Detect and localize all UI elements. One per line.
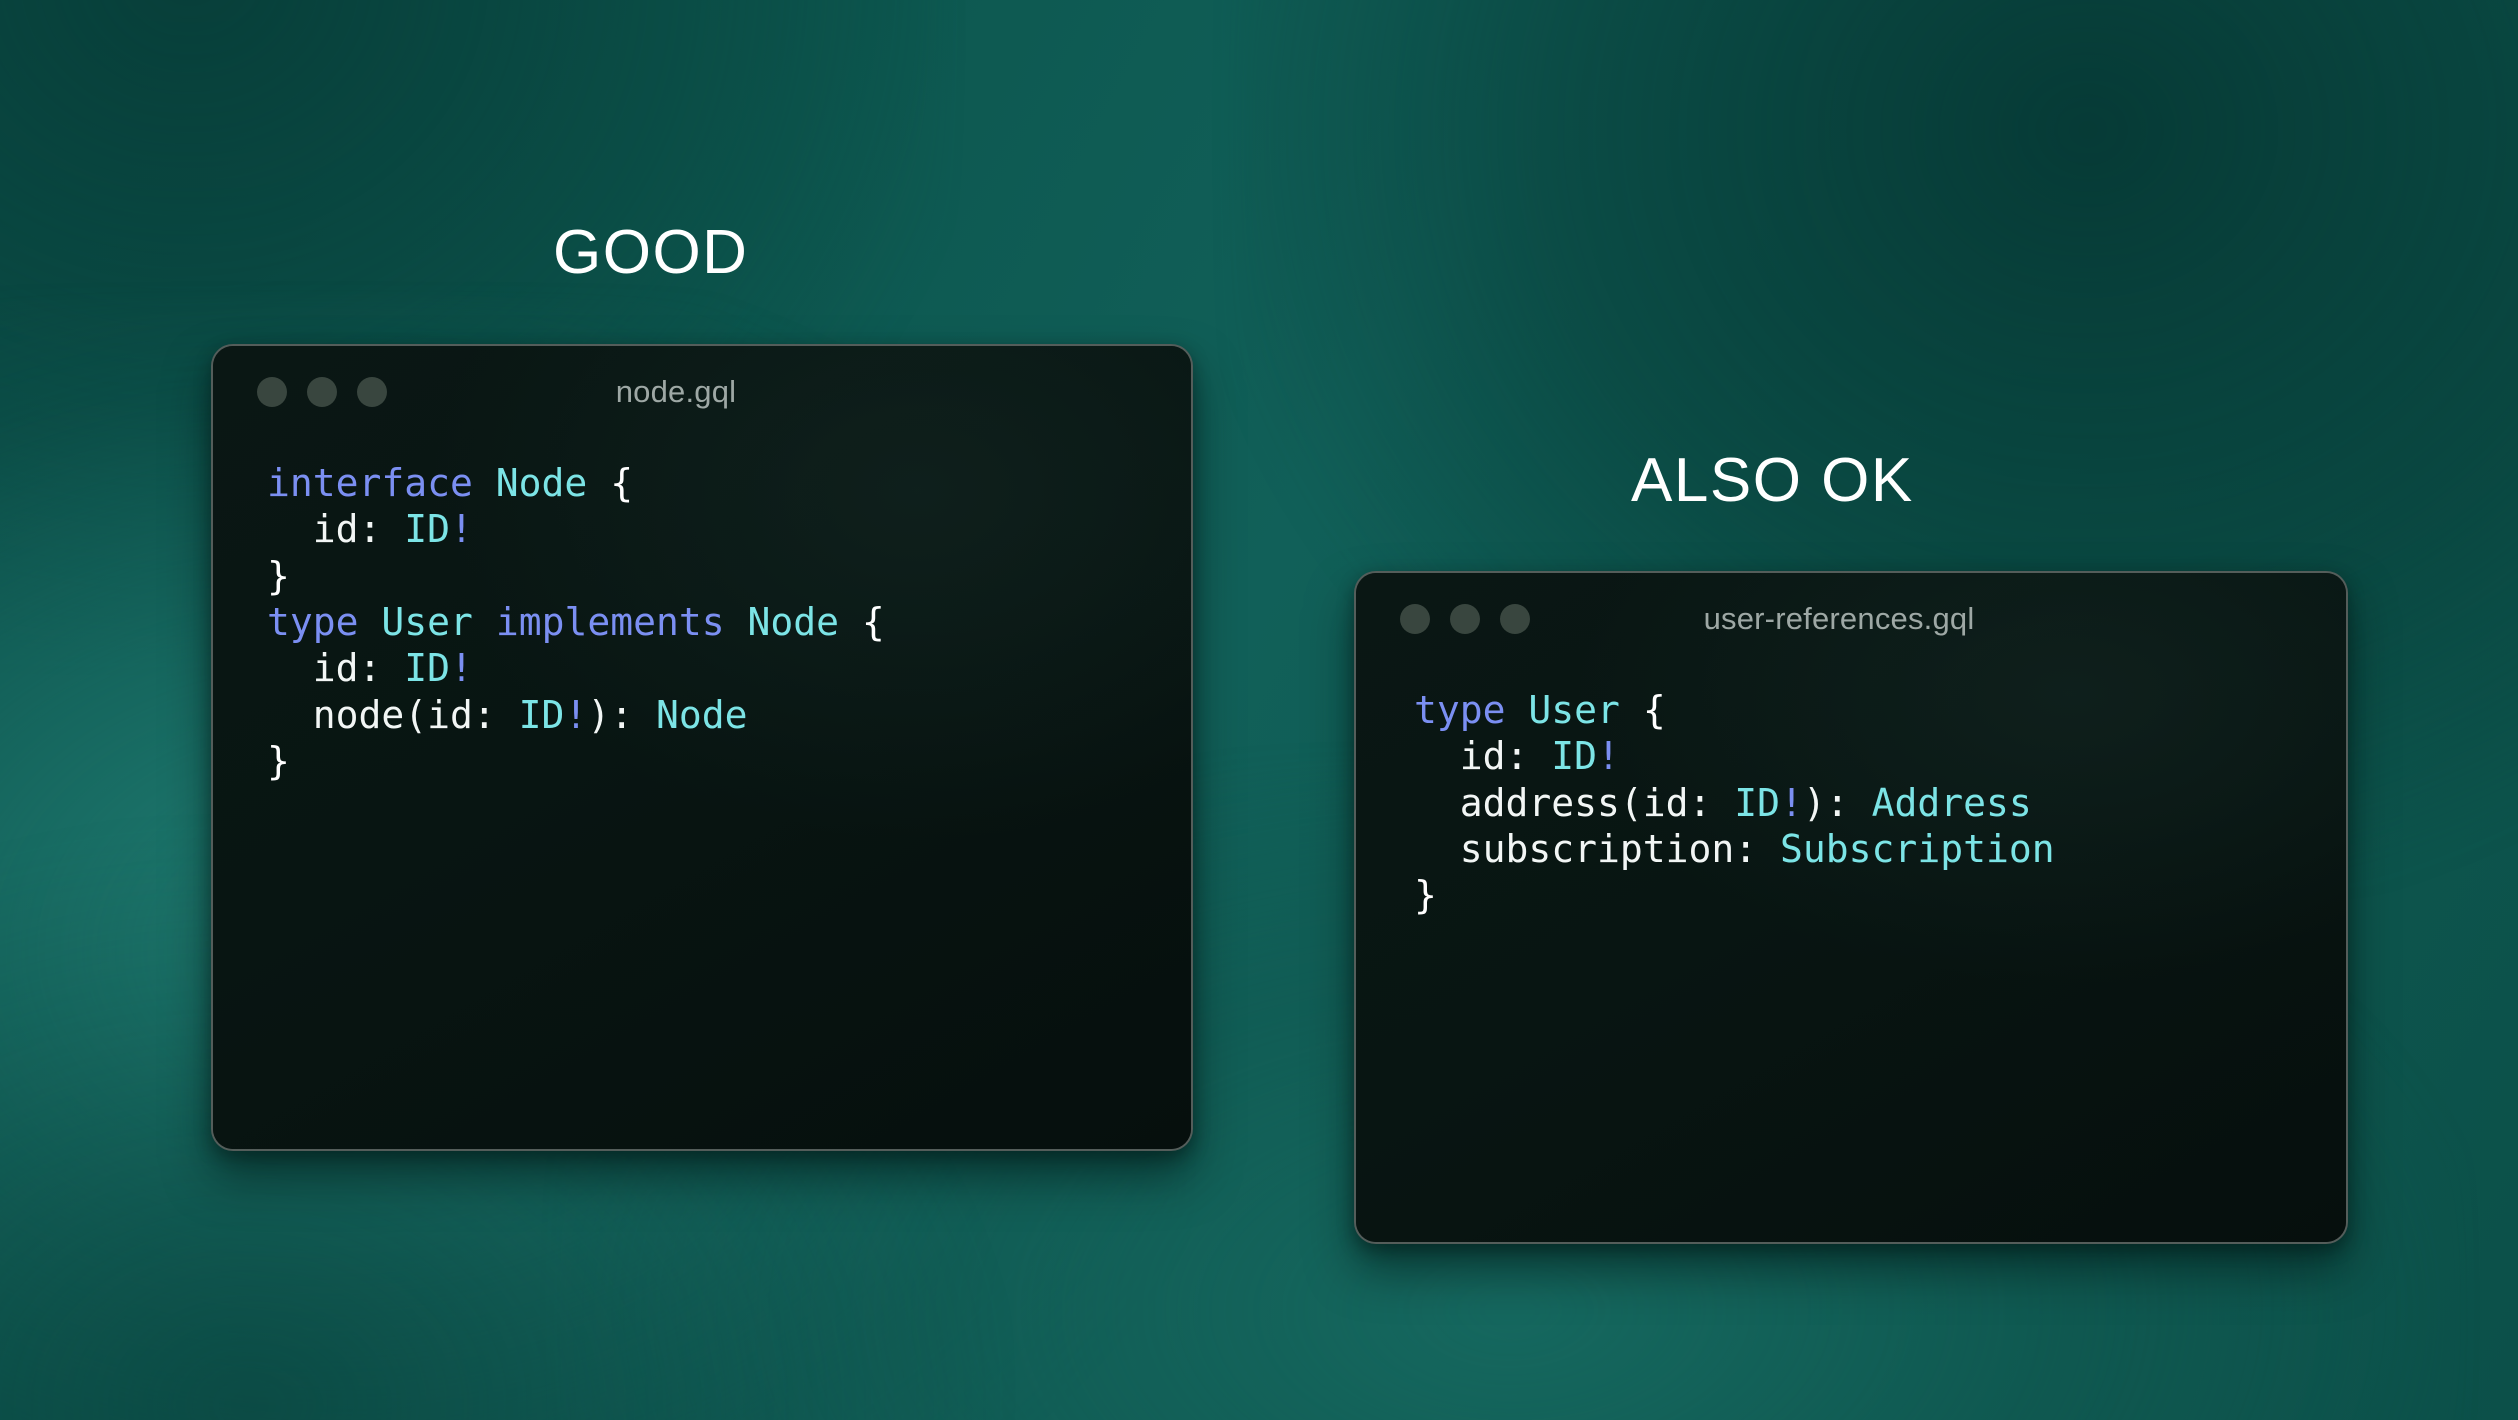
code-block-node-gql: interface Node { id: ID!}type User imple…: [213, 438, 1191, 785]
code-token: id:: [1414, 734, 1551, 778]
code-block-user-references-gql: type User { id: ID! address(id: ID!): Ad…: [1356, 665, 2346, 919]
code-token: }: [267, 739, 290, 783]
code-line: type User {: [1414, 687, 2346, 733]
code-token: {: [862, 600, 885, 644]
window-body: node.gql interface Node { id: ID!}type U…: [213, 346, 1191, 785]
code-line: }: [267, 553, 1191, 599]
code-token: type: [267, 600, 359, 644]
window-titlebar: user-references.gql: [1356, 573, 2346, 665]
window-controls: [1400, 604, 1530, 634]
minimize-dot-icon[interactable]: [1450, 604, 1480, 634]
code-token: node(id:: [267, 693, 519, 737]
code-token: !: [1780, 781, 1803, 825]
code-token: !: [564, 693, 587, 737]
code-token: [839, 600, 862, 644]
close-dot-icon[interactable]: [257, 377, 287, 407]
window-body: user-references.gql type User { id: ID! …: [1356, 573, 2346, 919]
code-line: interface Node {: [267, 460, 1191, 506]
code-token: ):: [587, 693, 656, 737]
code-token: Subscription: [1780, 827, 2055, 871]
code-token: Node: [747, 600, 839, 644]
screenshot-stage: GOOD node.gql interface Node { id: ID!}t…: [0, 0, 2518, 1420]
code-token: ):: [1803, 781, 1872, 825]
code-token: ID: [519, 693, 565, 737]
code-line: type User implements Node {: [267, 599, 1191, 645]
code-token: type: [1414, 688, 1506, 732]
code-token: [587, 461, 610, 505]
code-token: Node: [496, 461, 588, 505]
maximize-dot-icon[interactable]: [357, 377, 387, 407]
minimize-dot-icon[interactable]: [307, 377, 337, 407]
code-line: subscription: Subscription: [1414, 826, 2346, 872]
code-token: }: [267, 554, 290, 598]
code-line: address(id: ID!): Address: [1414, 780, 2346, 826]
code-token: id:: [267, 507, 404, 551]
code-token: [473, 600, 496, 644]
code-line: node(id: ID!): Node: [267, 692, 1191, 738]
code-token: Address: [1872, 781, 2032, 825]
code-token: [1620, 688, 1643, 732]
code-token: address(id:: [1414, 781, 1734, 825]
code-token: subscription:: [1414, 827, 1780, 871]
code-token: ID: [404, 646, 450, 690]
heading-also-ok: ALSO OK: [1631, 450, 1914, 512]
code-line: }: [1414, 872, 2346, 918]
close-dot-icon[interactable]: [1400, 604, 1430, 634]
code-token: !: [450, 646, 473, 690]
code-line: id: ID!: [267, 645, 1191, 691]
code-window-node-gql[interactable]: node.gql interface Node { id: ID!}type U…: [211, 344, 1193, 1151]
heading-good: GOOD: [553, 222, 748, 284]
code-token: {: [610, 461, 633, 505]
code-token: ID: [404, 507, 450, 551]
code-token: {: [1643, 688, 1666, 732]
code-token: User: [381, 600, 473, 644]
code-token: [473, 461, 496, 505]
code-token: }: [1414, 873, 1437, 917]
code-token: ID: [1551, 734, 1597, 778]
code-token: [359, 600, 382, 644]
code-token: User: [1528, 688, 1620, 732]
code-token: !: [450, 507, 473, 551]
code-token: [725, 600, 748, 644]
code-token: [1506, 688, 1529, 732]
code-token: Node: [656, 693, 748, 737]
code-line: }: [267, 738, 1191, 784]
code-token: !: [1597, 734, 1620, 778]
window-titlebar: node.gql: [213, 346, 1191, 438]
code-window-user-references-gql[interactable]: user-references.gql type User { id: ID! …: [1354, 571, 2348, 1244]
code-token: id:: [267, 646, 404, 690]
code-line: id: ID!: [1414, 733, 2346, 779]
code-token: interface: [267, 461, 473, 505]
code-token: ID: [1734, 781, 1780, 825]
window-controls: [257, 377, 387, 407]
code-token: implements: [496, 600, 725, 644]
maximize-dot-icon[interactable]: [1500, 604, 1530, 634]
code-line: id: ID!: [267, 506, 1191, 552]
